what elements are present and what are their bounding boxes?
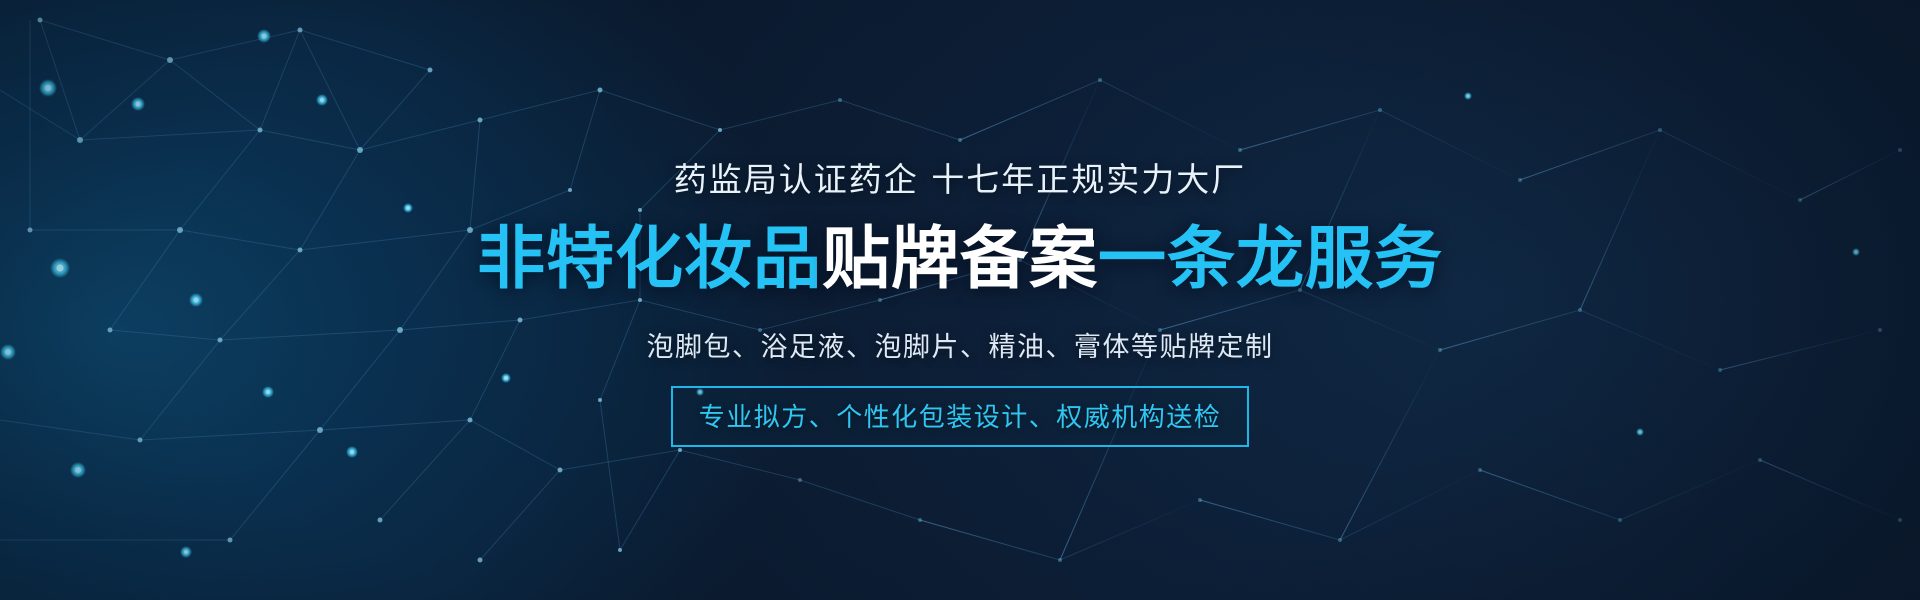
headline-part-1: 非特化妆品	[477, 220, 822, 299]
banner-headline: 非特化妆品贴牌备案一条龙服务	[477, 223, 1443, 296]
headline-part-2: 贴牌备案	[822, 220, 1098, 299]
headline-part-3: 一条龙服务	[1098, 220, 1443, 299]
banner-tagline-box: 专业拟方、个性化包装设计、权威机构送检	[671, 386, 1250, 447]
promo-banner: 药监局认证药企 十七年正规实力大厂 非特化妆品贴牌备案一条龙服务 泡脚包、浴足液…	[0, 0, 1920, 600]
banner-content: 药监局认证药企 十七年正规实力大厂 非特化妆品贴牌备案一条龙服务 泡脚包、浴足液…	[0, 0, 1920, 600]
banner-description: 泡脚包、浴足液、泡脚片、精油、膏体等贴牌定制	[647, 325, 1274, 364]
banner-eyebrow-text: 药监局认证药企 十七年正规实力大厂	[674, 153, 1247, 201]
